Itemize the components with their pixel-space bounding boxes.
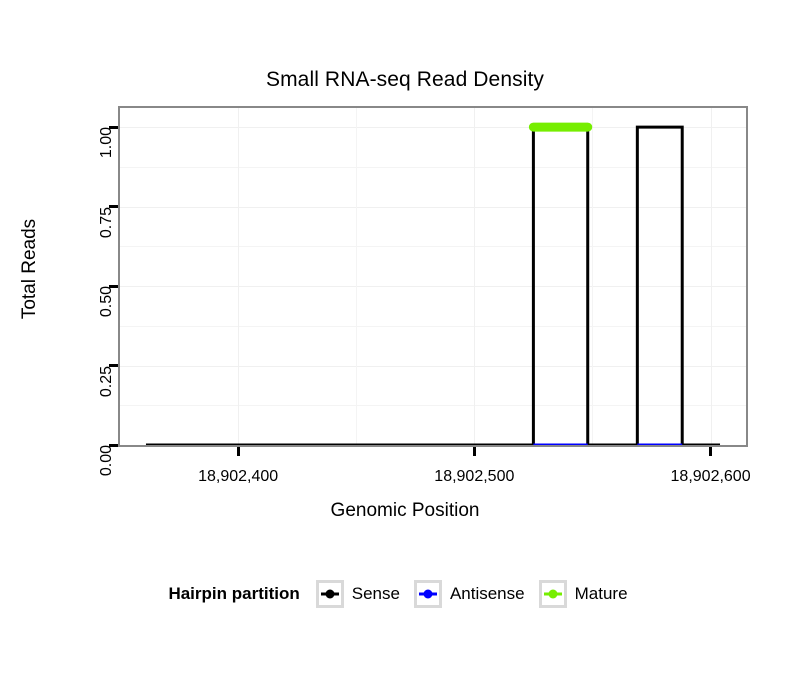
legend-key-dot	[325, 590, 334, 599]
legend-key-icon	[316, 580, 344, 608]
chart-title: Small RNA-seq Read Density	[0, 68, 810, 92]
x-axis-tick	[709, 447, 712, 456]
legend: Hairpin partition SenseAntisenseMature	[0, 580, 810, 608]
plot-area	[120, 108, 746, 445]
legend-item-sense[interactable]: Sense	[316, 580, 400, 608]
x-axis-tick-label: 18,902,500	[434, 468, 514, 486]
legend-item-label: Mature	[575, 584, 628, 604]
legend-key-dot	[423, 590, 432, 599]
chart-canvas: Small RNA-seq Read Density Total Reads 0…	[0, 0, 810, 690]
legend-item-mature[interactable]: Mature	[539, 580, 628, 608]
y-axis-tick-label-text: 0.00	[98, 445, 116, 476]
legend-items: SenseAntisenseMature	[316, 580, 642, 608]
y-axis-title: Total Reads	[0, 106, 60, 431]
y-axis-tick-label-text: 1.00	[98, 127, 116, 158]
legend-key-icon	[539, 580, 567, 608]
legend-key-icon	[414, 580, 442, 608]
x-axis-tick	[473, 447, 476, 456]
y-axis-tick-label-text: 0.50	[98, 286, 116, 317]
x-axis-tick-label: 18,902,400	[198, 468, 278, 486]
legend-item-label: Antisense	[450, 584, 525, 604]
legend-title: Hairpin partition	[168, 584, 299, 604]
series-line-sense	[146, 127, 720, 445]
y-axis-tick-label: 0.75	[47, 197, 107, 217]
x-axis-title: Genomic Position	[0, 500, 810, 522]
y-axis-tick-label: 1.00	[47, 117, 107, 137]
x-axis-tick-label: 18,902,600	[671, 468, 751, 486]
legend-key-dot	[548, 590, 557, 599]
y-axis-tick-label-text: 0.25	[98, 366, 116, 397]
plot-panel	[118, 106, 748, 447]
y-axis-title-text: Total Reads	[19, 218, 41, 318]
y-axis-tick-label-text: 0.75	[98, 207, 116, 238]
data-series-layer	[120, 108, 746, 445]
y-axis-tick-label: 0.50	[47, 276, 107, 296]
y-axis-tick-label: 0.25	[47, 356, 107, 376]
legend-item-antisense[interactable]: Antisense	[414, 580, 525, 608]
legend-item-label: Sense	[352, 584, 400, 604]
y-axis-tick-label: 0.00	[47, 435, 107, 455]
x-axis-tick	[237, 447, 240, 456]
